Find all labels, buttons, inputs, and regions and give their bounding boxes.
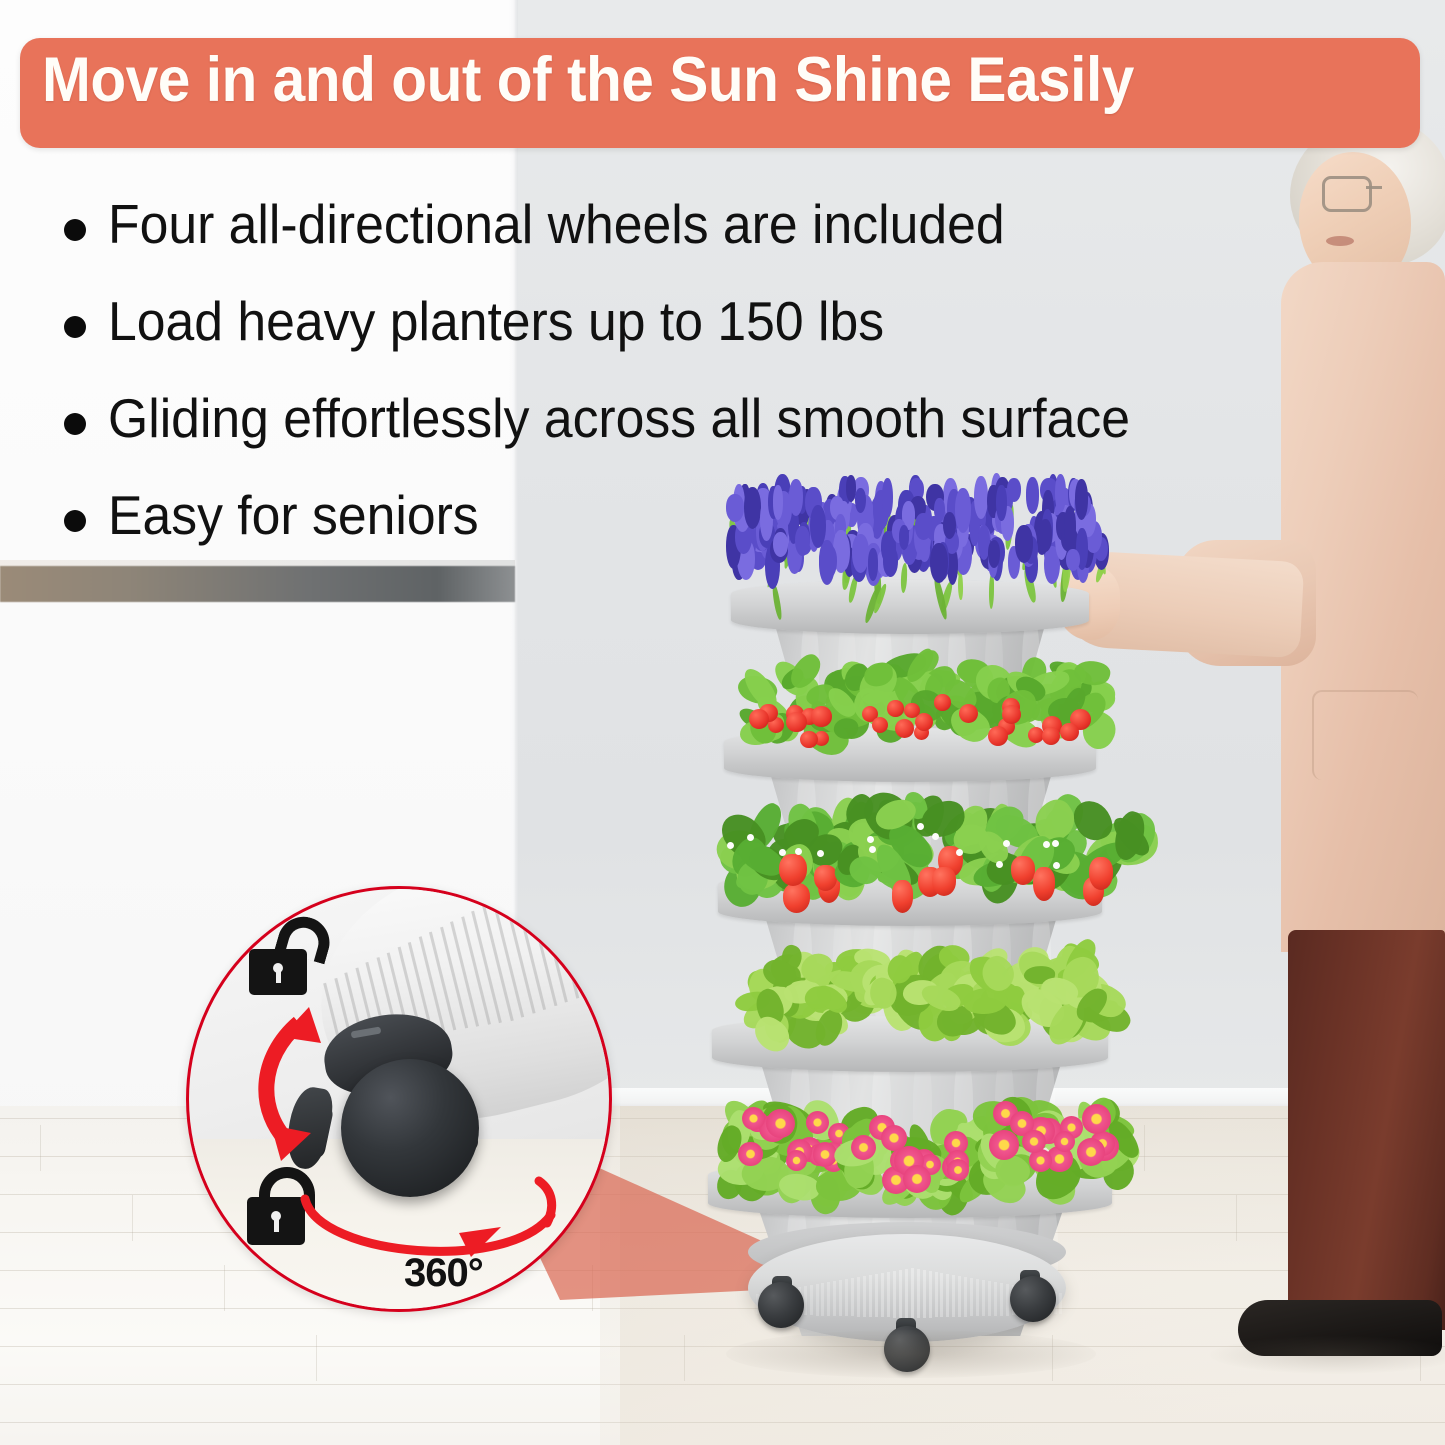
flower-strawberry [917,823,924,830]
trousers [1288,930,1445,1330]
flower-strawberry [1053,862,1060,869]
feature-label: Easy for seniors [108,487,479,543]
caster-wheel-left [758,1282,804,1328]
fruit-cherry-tomato [1042,727,1060,745]
wheel-detail-inset: 360° [186,886,612,1312]
double-arrow-vertical-icon [225,999,335,1169]
fruit-cherry-tomato [811,706,832,727]
fruit-cherry-tomato [988,726,1008,746]
fruit-cherry-tomato [1060,723,1079,742]
fruit-cherry-tomato [934,694,950,710]
unlock-icon [249,917,319,995]
feature-label: Load heavy planters up to 150 lbs [108,293,884,349]
fruit-strawberry [1033,867,1055,901]
fruit-strawberry [783,883,810,913]
glasses-bridge [1366,186,1382,189]
fruit-cherry-tomato [915,713,933,731]
bullet-dot-icon [64,510,86,532]
plant-strawberry [700,788,1120,908]
fruit-strawberry [892,880,914,912]
feature-list: Four all-directional wheels are included… [64,196,1424,584]
tower-shadow [726,1330,1096,1378]
flower-strawberry [1003,840,1010,847]
product-infographic: 360° Move in and out of the Sun Shine Ea… [0,0,1445,1445]
flower-primrose [1022,1130,1046,1154]
cardigan-pocket [1312,690,1418,780]
plant-primrose [700,1082,1120,1208]
list-item: Gliding effortlessly across all smooth s… [64,390,1424,487]
caster-wheel-right [1010,1276,1056,1322]
flower-strawberry [869,846,876,853]
fruit-strawberry [932,867,956,896]
fruit-strawberry [779,854,807,886]
fruit-cherry-tomato [895,719,914,738]
degrees-label: 360° [404,1251,483,1296]
fruit-cherry-tomato [800,731,817,748]
plant-cherry-tomato [700,646,1120,756]
plant-basil-greens [700,940,1120,1046]
list-item: Load heavy planters up to 150 lbs [64,293,1424,390]
flower-primrose [738,1142,762,1166]
flower-strawberry [996,861,1003,868]
fruit-cherry-tomato [887,700,903,716]
planter-tower [700,470,1120,1370]
fruit-strawberry [1011,856,1035,884]
bullet-dot-icon [64,413,86,435]
fruit-cherry-tomato [786,712,806,732]
fruit-cherry-tomato [959,704,978,723]
person-shadow [1210,1336,1445,1374]
headline-text: Move in and out of the Sun Shine Easily [42,44,1307,116]
flower-primrose [989,1130,1019,1160]
list-item: Four all-directional wheels are included [64,196,1424,293]
feature-label: Gliding effortlessly across all smooth s… [108,390,1130,446]
flower-primrose [742,1107,765,1130]
bullet-dot-icon [64,316,86,338]
feature-label: Four all-directional wheels are included [108,196,1005,252]
flower-strawberry [932,833,939,840]
bullet-dot-icon [64,219,86,241]
list-item: Easy for seniors [64,487,1424,584]
flower-primrose [1054,1131,1075,1152]
fruit-cherry-tomato [1002,705,1021,724]
flower-primrose [947,1159,969,1181]
flower-primrose [1082,1104,1111,1133]
